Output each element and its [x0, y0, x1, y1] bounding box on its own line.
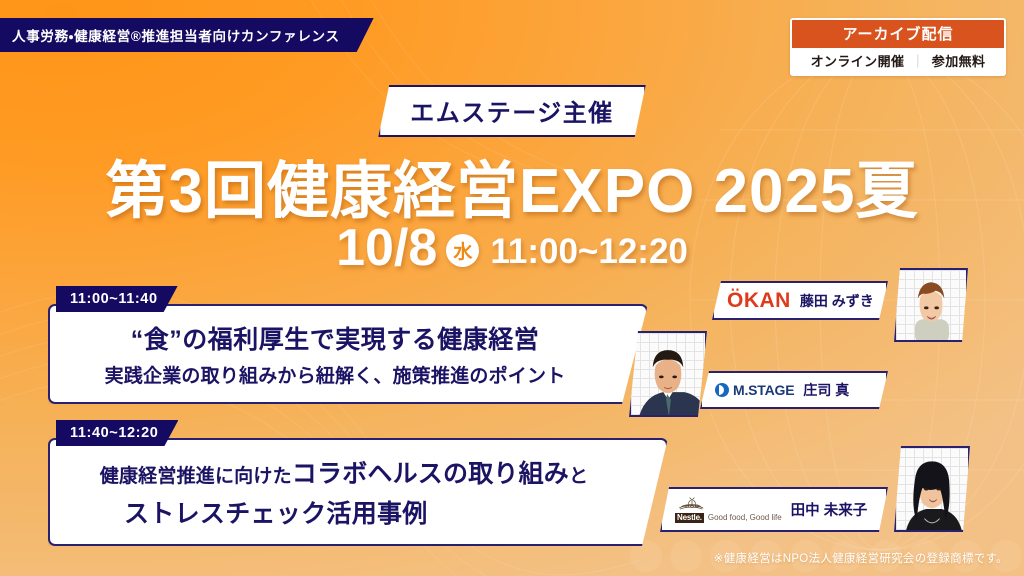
- mstage-logo: M.STAGE: [715, 382, 794, 398]
- speaker-photo-fujita: [894, 268, 968, 342]
- host-badge-label: エムステージ主催: [410, 100, 614, 127]
- speaker-badge-tanaka: Nestle. Good food, Good life 田中 未来子: [660, 487, 888, 532]
- session-2-time: 11:40~12:20: [70, 425, 158, 441]
- session-2-title: 健康経営推進に向けたコラボヘルスの取り組みと: [68, 454, 620, 490]
- session-2-title-prefix: 健康経営推進に向けた: [100, 466, 292, 487]
- mstage-logo-text: M.STAGE: [733, 382, 794, 398]
- event-date: 10/8: [336, 222, 437, 274]
- session-2-title-emphasis: コラボヘルスの取り組み: [292, 460, 569, 488]
- archive-divider: ｜: [911, 51, 924, 70]
- speaker-name-tanaka: 田中 未来子: [791, 499, 868, 520]
- event-day-of-week-badge: 水: [446, 234, 479, 267]
- session-1-subtitle: 実践企業の取り組みから紐解く、施策推進のポイント: [68, 361, 602, 388]
- session-1-title: “食”の福利厚生で実現する健康経営: [68, 320, 602, 356]
- speaker-badge-shoji: M.STAGE 庄司 真: [700, 371, 888, 409]
- header-ribbon-text: 人事労務・健康経営®推進担当者向けカンファレンス: [12, 25, 340, 45]
- archive-badge: アーカイブ配信 オンライン開催 ｜ 参加無料: [790, 18, 1006, 76]
- speaker-name-shoji: 庄司 真: [803, 380, 849, 400]
- nestle-logo-text: Nestle.: [675, 513, 704, 523]
- nestle-logo: Nestle. Good food, Good life: [675, 496, 782, 523]
- session-1-body: “食”の福利厚生で実現する健康経営 実践企業の取り組みから紐解く、施策推進のポイ…: [48, 304, 648, 404]
- page-title: 第3回健康経営EXPO 2025夏: [0, 140, 1024, 230]
- nestle-wordmark: Nestle. Good food, Good life: [675, 513, 782, 523]
- okan-logo: ÖKAN: [727, 290, 791, 311]
- session-2-subtitle: ストレスチェック活用事例: [68, 494, 620, 530]
- archive-format-label: オンライン開催: [811, 51, 905, 70]
- session-card-1: 11:00~11:40 “食”の福利厚生で実現する健康経営 実践企業の取り組みか…: [48, 286, 648, 404]
- mstage-mark-icon: [715, 383, 729, 397]
- speaker-badge-fujita: ÖKAN 藤田 みずき: [712, 281, 888, 320]
- speaker-photo-shoji: [629, 331, 707, 417]
- portrait-shoji-illustration: [631, 333, 705, 415]
- session-1-time: 11:00~11:40: [70, 291, 158, 307]
- event-time-range: 11:00~12:20: [490, 234, 688, 269]
- nestle-tagline: Good food, Good life: [708, 514, 782, 522]
- session-2-time-tag: 11:40~12:20: [56, 420, 178, 446]
- trademark-note: ※健康経営はNPO法人健康経営研究会の登録商標です。: [714, 549, 1008, 567]
- portrait-tanaka-illustration: [896, 448, 968, 530]
- host-badge: エムステージ主催: [378, 85, 646, 137]
- speaker-name-fujita: 藤田 みずき: [800, 291, 874, 311]
- event-banner: 人事労務・健康経営®推進担当者向けカンファレンス アーカイブ配信 オンライン開催…: [0, 0, 1024, 576]
- session-2-body: 健康経営推進に向けたコラボヘルスの取り組みと ストレスチェック活用事例: [48, 438, 668, 546]
- event-datetime: 10/8 水 11:00~12:20: [0, 222, 1024, 274]
- nestle-bird-nest-icon: [675, 496, 709, 512]
- session-2-title-conjunction: と: [569, 466, 588, 487]
- archive-price-label: 参加無料: [932, 51, 986, 70]
- header-ribbon: 人事労務・健康経営®推進担当者向けカンファレンス: [0, 18, 374, 52]
- speaker-photo-tanaka: [894, 446, 970, 532]
- page-title-text: 第3回健康経営EXPO 2025夏: [106, 157, 919, 226]
- session-1-time-tag: 11:00~11:40: [56, 286, 178, 312]
- archive-badge-details: オンライン開催 ｜ 参加無料: [792, 48, 1004, 74]
- archive-badge-title: アーカイブ配信: [792, 20, 1004, 48]
- trademark-note-text: ※健康経営はNPO法人健康経営研究会の登録商標です。: [714, 553, 1008, 565]
- session-card-2: 11:40~12:20 健康経営推進に向けたコラボヘルスの取り組みと ストレスチ…: [48, 420, 668, 546]
- portrait-fujita-illustration: [896, 270, 966, 340]
